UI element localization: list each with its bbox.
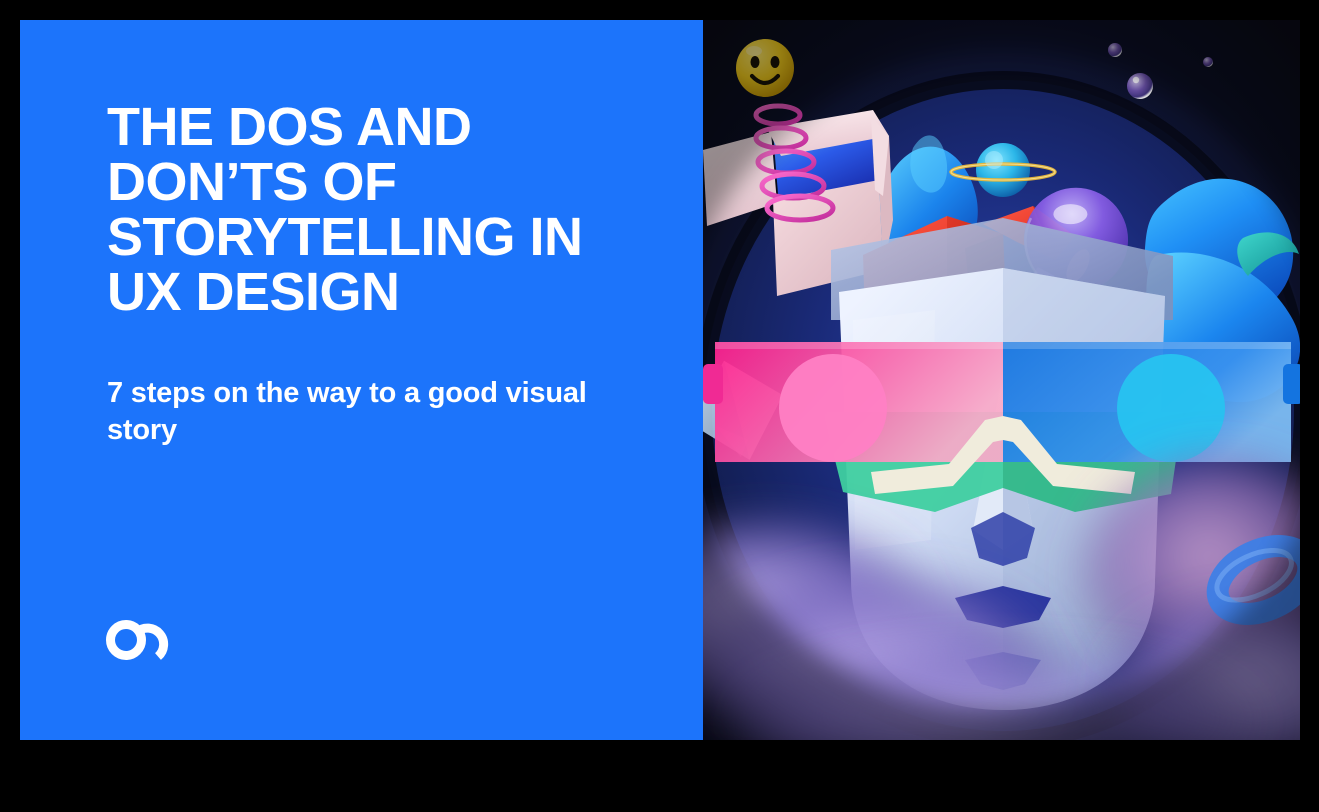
3d-surreal-head-illustration: [703, 20, 1300, 740]
page-title: THE DOS AND DON’TS OF STORYTELLING IN UX…: [107, 100, 667, 320]
sunglasses-temple-left: [703, 364, 723, 404]
sunglasses-temple-right: [1283, 364, 1300, 404]
presentation-slide: THE DOS AND DON’TS OF STORYTELLING IN UX…: [20, 20, 1300, 740]
sunglasses-right-pupil: [1117, 354, 1225, 462]
slide-artwork-panel: [703, 20, 1300, 740]
slide-text-panel: THE DOS AND DON’TS OF STORYTELLING IN UX…: [20, 20, 703, 740]
slide-subtitle: 7 steps on the way to a good visual stor…: [107, 375, 607, 449]
title-block: THE DOS AND DON’TS OF STORYTELLING IN UX…: [107, 100, 667, 320]
sunglasses-left-pupil: [779, 354, 887, 462]
screenshot-root: THE DOS AND DON’TS OF STORYTELLING IN UX…: [0, 0, 1319, 812]
infinity-mark-icon: [106, 616, 176, 664]
